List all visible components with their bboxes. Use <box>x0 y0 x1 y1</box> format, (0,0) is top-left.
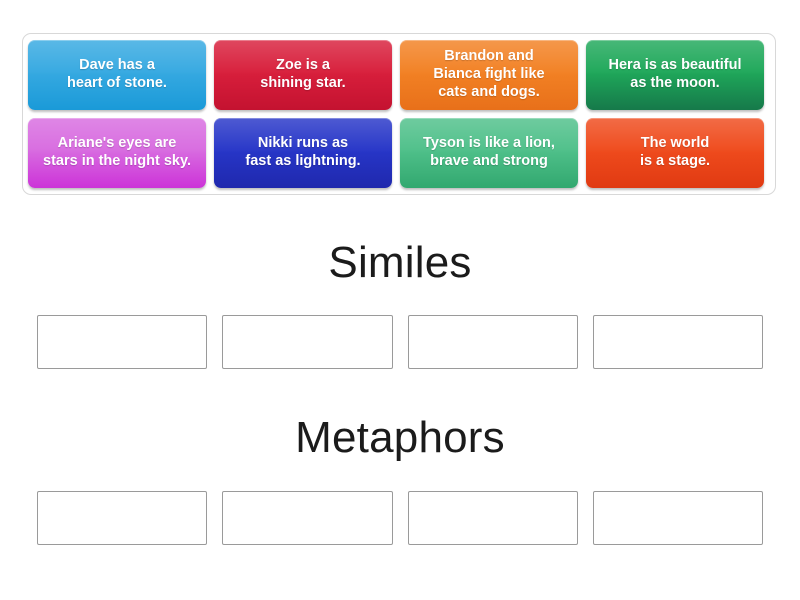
tile-label: Nikki runs asfast as lightning. <box>245 135 360 170</box>
dropzone-row-metaphors <box>37 491 763 545</box>
draggable-tile[interactable]: Nikki runs asfast as lightning. <box>214 118 392 188</box>
tile-label: Zoe is ashining star. <box>260 57 345 92</box>
dropzone-metaphors-4[interactable] <box>593 491 763 545</box>
category-title-metaphors: Metaphors <box>0 413 800 463</box>
tile-label: Tyson is like a lion,brave and strong <box>423 135 555 170</box>
dropzone-similes-2[interactable] <box>222 315 392 369</box>
tile-label: Ariane's eyes arestars in the night sky. <box>43 135 191 170</box>
dropzone-metaphors-1[interactable] <box>37 491 207 545</box>
draggable-tile[interactable]: Brandon andBianca fight likecats and dog… <box>400 40 578 110</box>
dropzone-similes-1[interactable] <box>37 315 207 369</box>
draggable-tile[interactable]: Ariane's eyes arestars in the night sky. <box>28 118 206 188</box>
draggable-tile[interactable]: Hera is as beautifulas the moon. <box>586 40 764 110</box>
draggable-tile[interactable]: Zoe is ashining star. <box>214 40 392 110</box>
tile-label: Hera is as beautifulas the moon. <box>609 57 742 92</box>
tile-row-1: Dave has aheart of stone. Zoe is ashinin… <box>28 40 770 110</box>
sorting-activity: Dave has aheart of stone. Zoe is ashinin… <box>0 0 800 600</box>
dropzone-similes-4[interactable] <box>593 315 763 369</box>
word-tile-tray: Dave has aheart of stone. Zoe is ashinin… <box>22 33 776 195</box>
tile-label: Dave has aheart of stone. <box>67 57 167 92</box>
dropzone-row-similes <box>37 315 763 369</box>
dropzone-similes-3[interactable] <box>408 315 578 369</box>
dropzone-metaphors-3[interactable] <box>408 491 578 545</box>
draggable-tile[interactable]: Dave has aheart of stone. <box>28 40 206 110</box>
category-title-similes: Similes <box>0 238 800 288</box>
draggable-tile[interactable]: The worldis a stage. <box>586 118 764 188</box>
tile-label: The worldis a stage. <box>640 135 710 170</box>
draggable-tile[interactable]: Tyson is like a lion,brave and strong <box>400 118 578 188</box>
tile-label: Brandon andBianca fight likecats and dog… <box>433 48 544 101</box>
tile-row-2: Ariane's eyes arestars in the night sky.… <box>28 118 770 188</box>
dropzone-metaphors-2[interactable] <box>222 491 392 545</box>
